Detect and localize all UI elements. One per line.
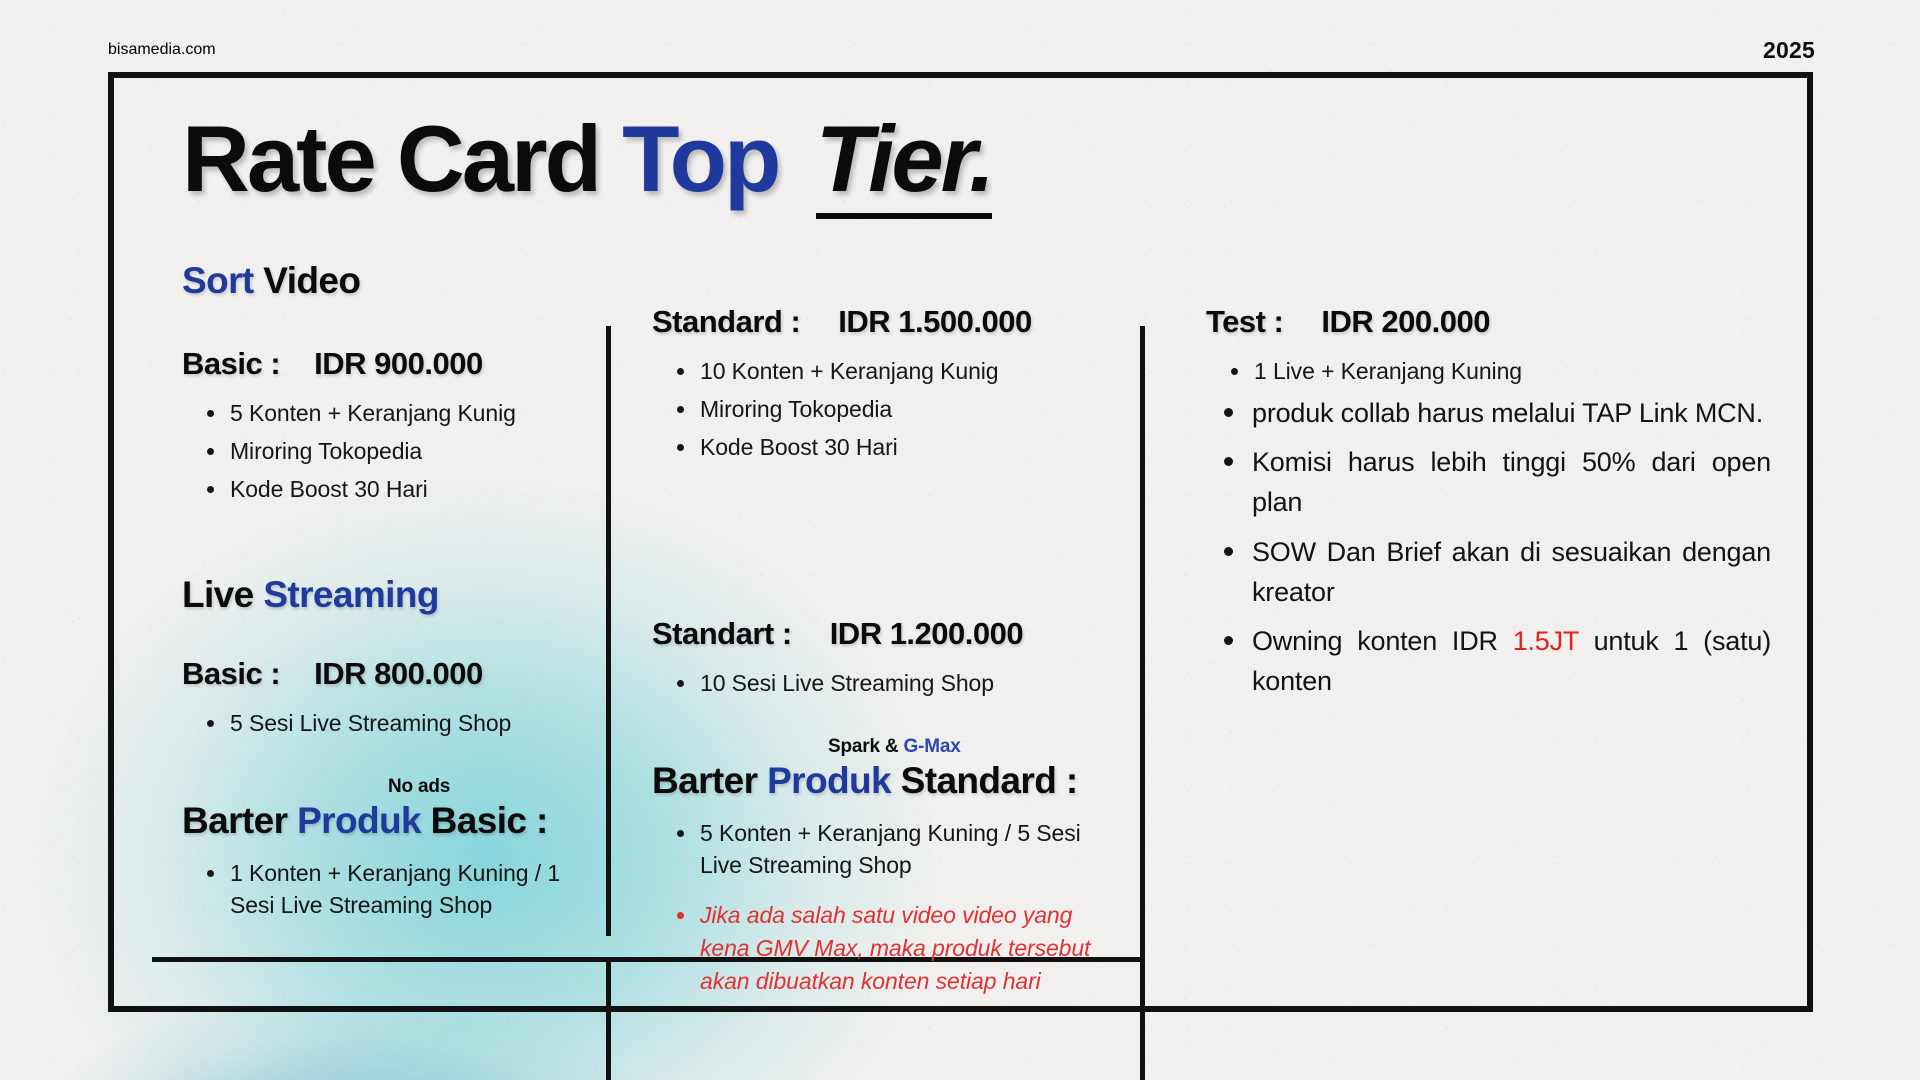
list-item: 10 Sesi Live Streaming Shop <box>674 667 1128 700</box>
list-item: SOW Dan Brief akan di sesuaikan dengan k… <box>1218 532 1771 612</box>
list-item: 5 Sesi Live Streaming Shop <box>204 707 586 740</box>
barter-title-basic: Barter Produk Basic : <box>182 800 586 842</box>
section-heading-live-word2: Streaming <box>263 574 439 615</box>
barter-title-word2: Produk <box>767 760 891 801</box>
price-value: IDR 800.000 <box>314 656 483 692</box>
terms-list: produk collab harus melalui TAP Link MCN… <box>1206 393 1771 702</box>
barter-title-word1: Barter <box>182 800 287 841</box>
price-label: Basic : <box>182 346 280 382</box>
price-row-sort-standard: Standard : IDR 1.500.000 <box>652 304 1128 340</box>
barter-tag-word2: G-Max <box>904 736 961 757</box>
list-item: Kode Boost 30 Hari <box>674 431 1128 464</box>
price-value: IDR 200.000 <box>1321 304 1490 340</box>
price-row-sort-basic: Basic : IDR 900.000 <box>182 346 586 382</box>
feature-list-sort-basic: 5 Konten + Keranjang Kunig Miroring Toko… <box>182 397 586 506</box>
list-item-owning-konten: Owning konten IDR 1.5JT untuk 1 (satu) k… <box>1218 621 1771 701</box>
barter-tag-spark-gmax: Spark & G-Max <box>828 736 1128 758</box>
price-label: Basic : <box>182 656 280 692</box>
section-heading-sort-word2: Video <box>263 260 360 301</box>
column-test-and-terms: Test : IDR 200.000 1 Live + Keranjang Ku… <box>1152 260 1807 998</box>
column-standard: Standard : IDR 1.500.000 10 Konten + Ker… <box>614 260 1152 998</box>
section-heading-live-streaming: Live Streaming <box>182 574 586 616</box>
barter-block-basic: No ads Barter Produk Basic : 1 Konten + … <box>182 776 586 923</box>
list-item: 5 Konten + Keranjang Kuning / 5 Sesi Liv… <box>674 817 1128 883</box>
pricing-grid: Sort Video Basic : IDR 900.000 5 Konten … <box>114 260 1807 998</box>
price-value: IDR 900.000 <box>314 346 483 382</box>
list-item: Komisi harus lebih tinggi 50% dari open … <box>1218 442 1771 522</box>
price-value: IDR 1.500.000 <box>838 304 1031 340</box>
owning-konten-pre: Owning konten IDR <box>1252 626 1513 656</box>
list-item: 10 Konten + Keranjang Kunig <box>674 355 1128 388</box>
title-part-rate-card: Rate Card <box>182 106 599 211</box>
barter-title-word3: Basic : <box>431 800 548 841</box>
barter-title-word2: Produk <box>297 800 421 841</box>
list-item: Kode Boost 30 Hari <box>204 473 586 506</box>
list-item: 5 Konten + Keranjang Kunig <box>204 397 586 430</box>
barter-note-gmv-max: Jika ada salah satu video video yang ken… <box>674 899 1128 997</box>
price-label: Test : <box>1206 304 1283 340</box>
list-item: produk collab harus melalui TAP Link MCN… <box>1218 393 1771 433</box>
section-heading-sort-word1: Sort <box>182 260 254 301</box>
site-name: bisamedia.com <box>108 41 216 59</box>
list-item: 1 Konten + Keranjang Kuning / 1 Sesi Liv… <box>204 857 586 923</box>
section-heading-sort-video: Sort Video <box>182 260 586 302</box>
barter-tag-no-ads: No ads <box>388 776 586 798</box>
barter-tag-word1: Spark & <box>828 736 898 757</box>
price-label: Standart : <box>652 616 792 652</box>
column-basic: Sort Video Basic : IDR 900.000 5 Konten … <box>114 260 614 998</box>
list-item: 1 Live + Keranjang Kuning <box>1228 355 1771 388</box>
price-row-live-standard: Standart : IDR 1.200.000 <box>652 616 1128 652</box>
feature-list-test: 1 Live + Keranjang Kuning <box>1206 355 1771 388</box>
feature-list-barter-basic: 1 Konten + Keranjang Kuning / 1 Sesi Liv… <box>182 857 586 923</box>
barter-block-standard: Spark & G-Max Barter Produk Standard : 5… <box>652 736 1128 998</box>
feature-list-live-basic: 5 Sesi Live Streaming Shop <box>182 707 586 740</box>
feature-list-sort-standard: 10 Konten + Keranjang Kunig Miroring Tok… <box>652 355 1128 464</box>
barter-title-word1: Barter <box>652 760 757 801</box>
title-part-tier: Tier. <box>816 106 993 219</box>
feature-list-barter-standard: 5 Konten + Keranjang Kuning / 5 Sesi Liv… <box>652 817 1128 998</box>
list-item: Miroring Tokopedia <box>204 435 586 468</box>
barter-title-word3: Standard : <box>901 760 1078 801</box>
page-header: bisamedia.com 2025 <box>0 30 1920 70</box>
price-row-live-basic: Basic : IDR 800.000 <box>182 656 586 692</box>
title-part-top: Top <box>622 106 778 211</box>
feature-list-live-standard: 10 Sesi Live Streaming Shop <box>652 667 1128 700</box>
price-label: Standard : <box>652 304 800 340</box>
section-heading-live-word1: Live <box>182 574 254 615</box>
year-label: 2025 <box>1763 37 1815 64</box>
barter-title-standard: Barter Produk Standard : <box>652 760 1128 802</box>
list-item: Miroring Tokopedia <box>674 393 1128 426</box>
price-row-test: Test : IDR 200.000 <box>1206 304 1771 340</box>
page-title: Rate Card Top Tier. <box>182 106 992 211</box>
price-value: IDR 1.200.000 <box>830 616 1023 652</box>
rate-card-frame: Rate Card Top Tier. Sort Video Basic : I… <box>108 72 1813 1012</box>
owning-konten-amount: 1.5JT <box>1513 626 1579 656</box>
